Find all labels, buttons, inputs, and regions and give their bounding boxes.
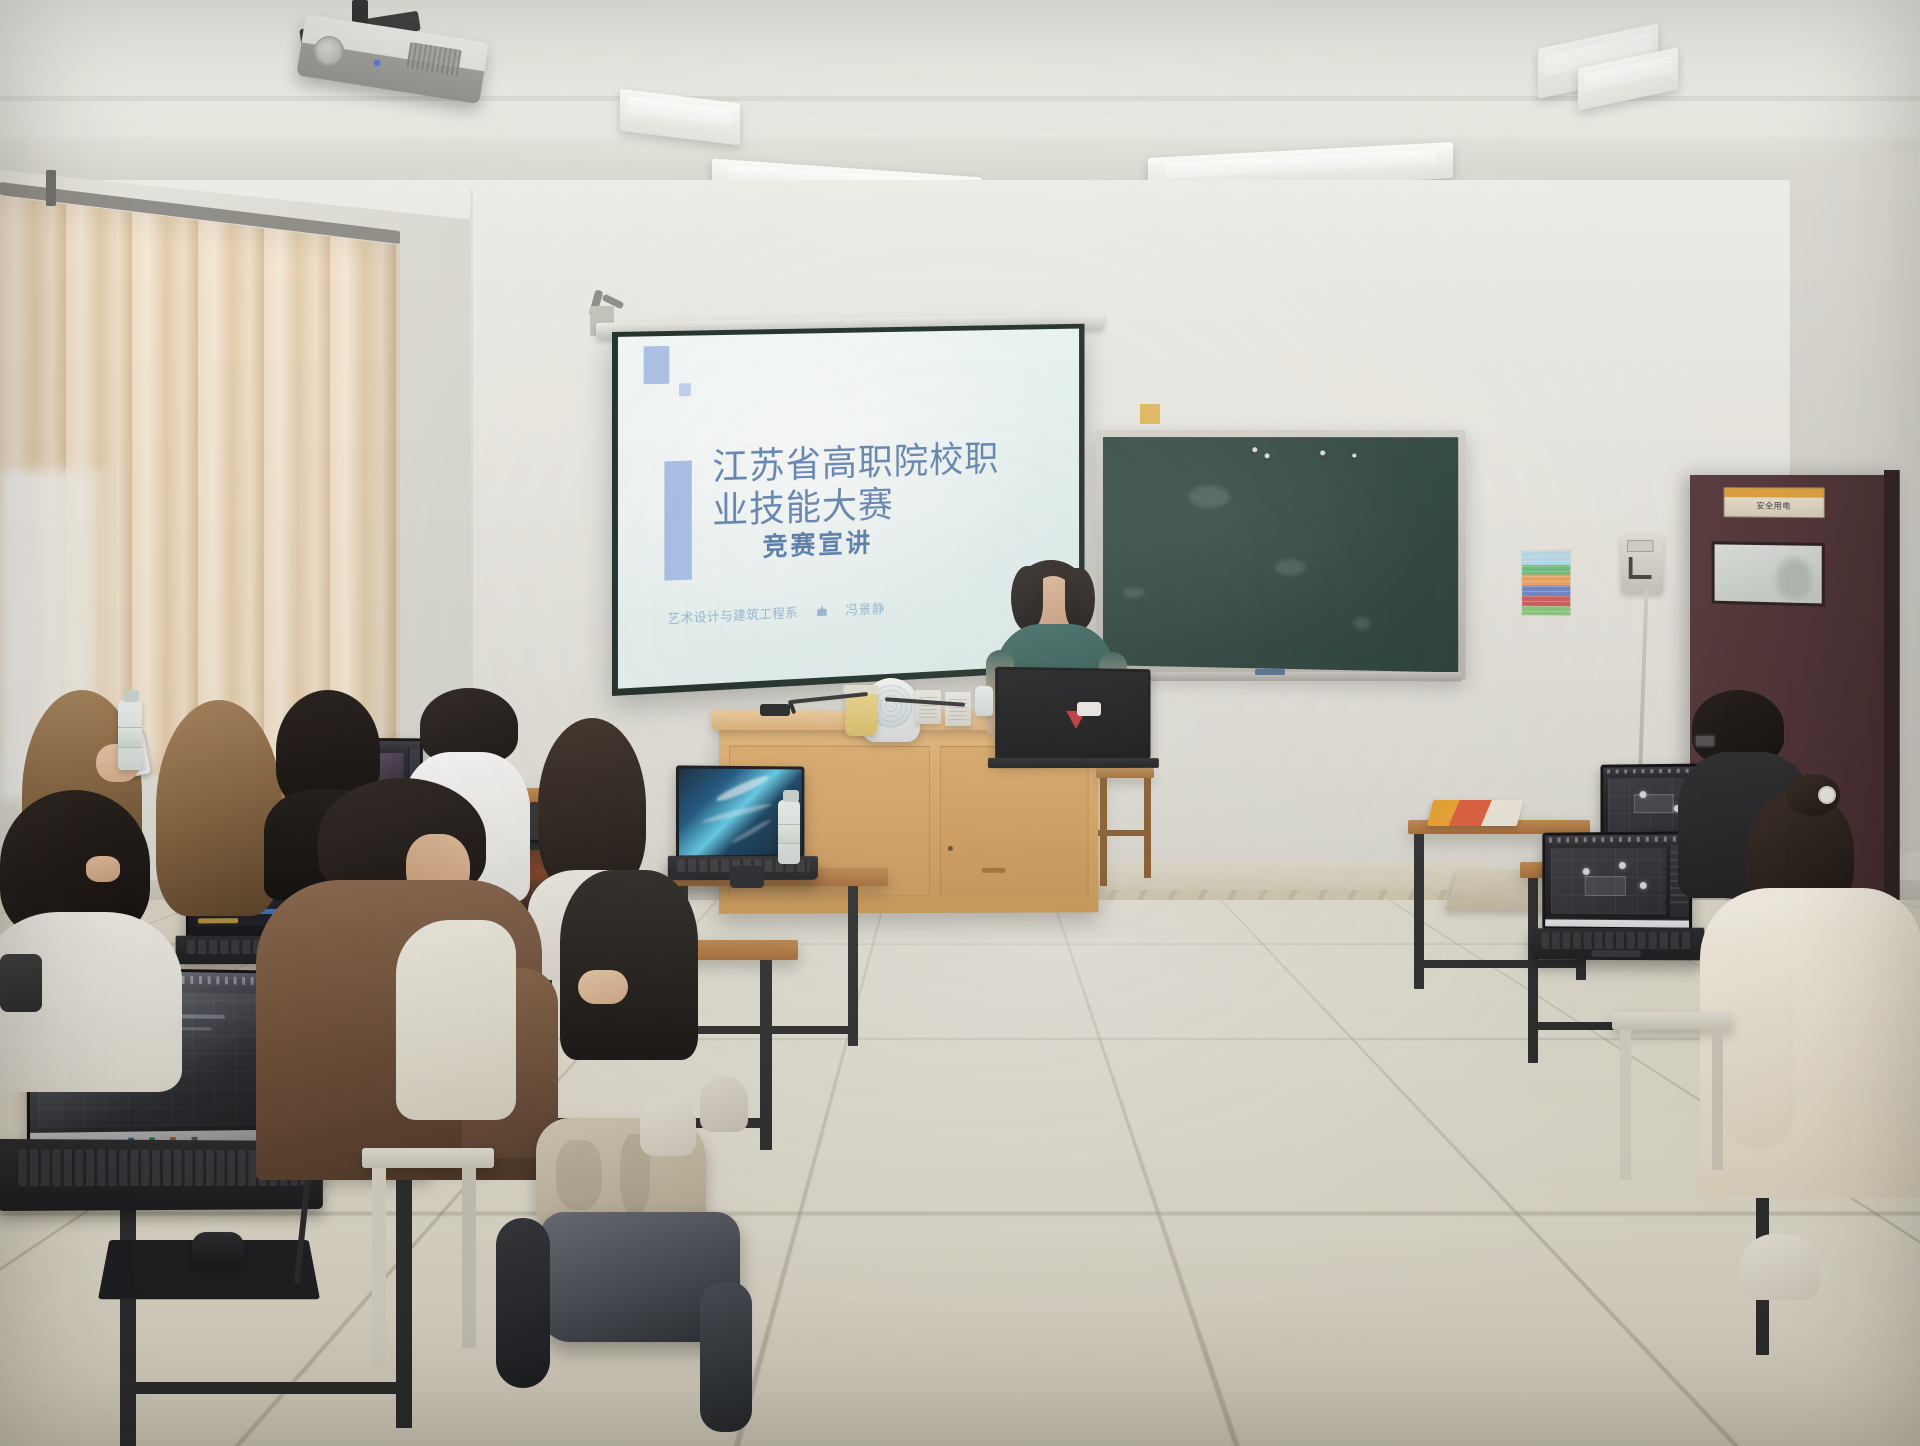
student-shoe-right bbox=[1740, 1234, 1820, 1300]
wooden-stool-seat bbox=[1096, 768, 1154, 778]
student-shoe bbox=[640, 1096, 696, 1156]
blackboard-magnet bbox=[1352, 454, 1356, 458]
desk-leg bbox=[848, 886, 858, 1046]
slide-footer-presenter: 冯景静 bbox=[846, 598, 886, 618]
chair-right bbox=[1612, 1012, 1732, 1030]
blackboard-surface bbox=[1103, 437, 1458, 672]
presenter-hair-side bbox=[1065, 568, 1095, 630]
speaker-box-right bbox=[945, 692, 971, 726]
backpack-strap bbox=[700, 1282, 752, 1432]
blackboard-magnet bbox=[1320, 450, 1325, 455]
shirt-graphic-print bbox=[0, 954, 42, 1012]
student-hand bbox=[578, 970, 628, 1004]
waste-sorting-poster bbox=[1521, 550, 1571, 617]
wall-mounted-control-box bbox=[1621, 535, 1663, 593]
desk-rail bbox=[1414, 960, 1582, 968]
door-sign: 安全用电 bbox=[1723, 487, 1824, 518]
speaker-box-left bbox=[915, 690, 941, 724]
presenter-icon bbox=[817, 605, 827, 616]
chair-foreground bbox=[362, 1148, 494, 1168]
chalk-smudge bbox=[1275, 559, 1306, 576]
chair-leg bbox=[1620, 1030, 1631, 1180]
door-sign-label: 安全用电 bbox=[1756, 500, 1790, 511]
ceiling-beam bbox=[0, 138, 1920, 180]
power-adapter bbox=[1077, 702, 1101, 716]
student-foreground-left bbox=[0, 790, 180, 1070]
chalk-smudge bbox=[1189, 485, 1230, 507]
podium-small-bottle bbox=[975, 686, 993, 716]
chalk-eraser bbox=[1255, 669, 1285, 675]
student-arm-light bbox=[396, 920, 516, 1120]
blackboard-magnet bbox=[1252, 447, 1257, 452]
blackboard-magnet bbox=[1265, 453, 1270, 458]
slide-decor-bar bbox=[664, 461, 691, 581]
chair-leg bbox=[462, 1168, 476, 1348]
eyeglasses-icon bbox=[1694, 734, 1716, 748]
desk-leg bbox=[1528, 878, 1538, 1063]
stool-rail bbox=[1098, 830, 1150, 836]
microphone-head bbox=[760, 704, 790, 716]
orange-textbook bbox=[1427, 800, 1523, 826]
slide-decor-square-large bbox=[644, 346, 670, 384]
wall-sticky-note bbox=[1140, 404, 1160, 424]
laptop-right-mid-base bbox=[1531, 928, 1704, 961]
desk-leg bbox=[120, 1178, 136, 1446]
door-window bbox=[1712, 541, 1825, 606]
student-sleeve bbox=[1724, 950, 1794, 1150]
student-shoe bbox=[700, 1076, 748, 1132]
water-bottle-left bbox=[118, 700, 142, 770]
student-left-6 bbox=[560, 830, 700, 1050]
presenter-hair-side bbox=[1011, 566, 1043, 630]
chair-leg bbox=[372, 1168, 386, 1368]
chalk-smudge bbox=[1353, 617, 1370, 630]
blackboard bbox=[1096, 430, 1466, 680]
chair-leg bbox=[1712, 1030, 1723, 1170]
student-ear bbox=[86, 856, 120, 882]
student-top bbox=[560, 870, 698, 1060]
slide-decor-square-small bbox=[679, 383, 691, 396]
laptop-podium[interactable] bbox=[995, 667, 1150, 762]
wall-corner-seam bbox=[470, 190, 473, 750]
hair-tie-icon bbox=[1818, 786, 1836, 804]
desk-rail bbox=[120, 1382, 410, 1394]
laptop-right-mid[interactable] bbox=[1542, 831, 1692, 931]
classroom-photo: 江苏省高职院校职 业技能大赛 竞赛宣讲 艺术设计与建筑工程系 冯景静 bbox=[0, 0, 1920, 1446]
student-right-front bbox=[1700, 790, 1920, 1210]
curtain-pole bbox=[46, 170, 56, 206]
phone-on-desk bbox=[730, 866, 764, 888]
backpack-strap bbox=[496, 1218, 550, 1388]
water-bottle-center bbox=[778, 800, 800, 864]
mouse-front-left[interactable] bbox=[192, 1232, 244, 1266]
stool-leg bbox=[1144, 778, 1151, 878]
laptop-podium-base bbox=[988, 758, 1159, 768]
